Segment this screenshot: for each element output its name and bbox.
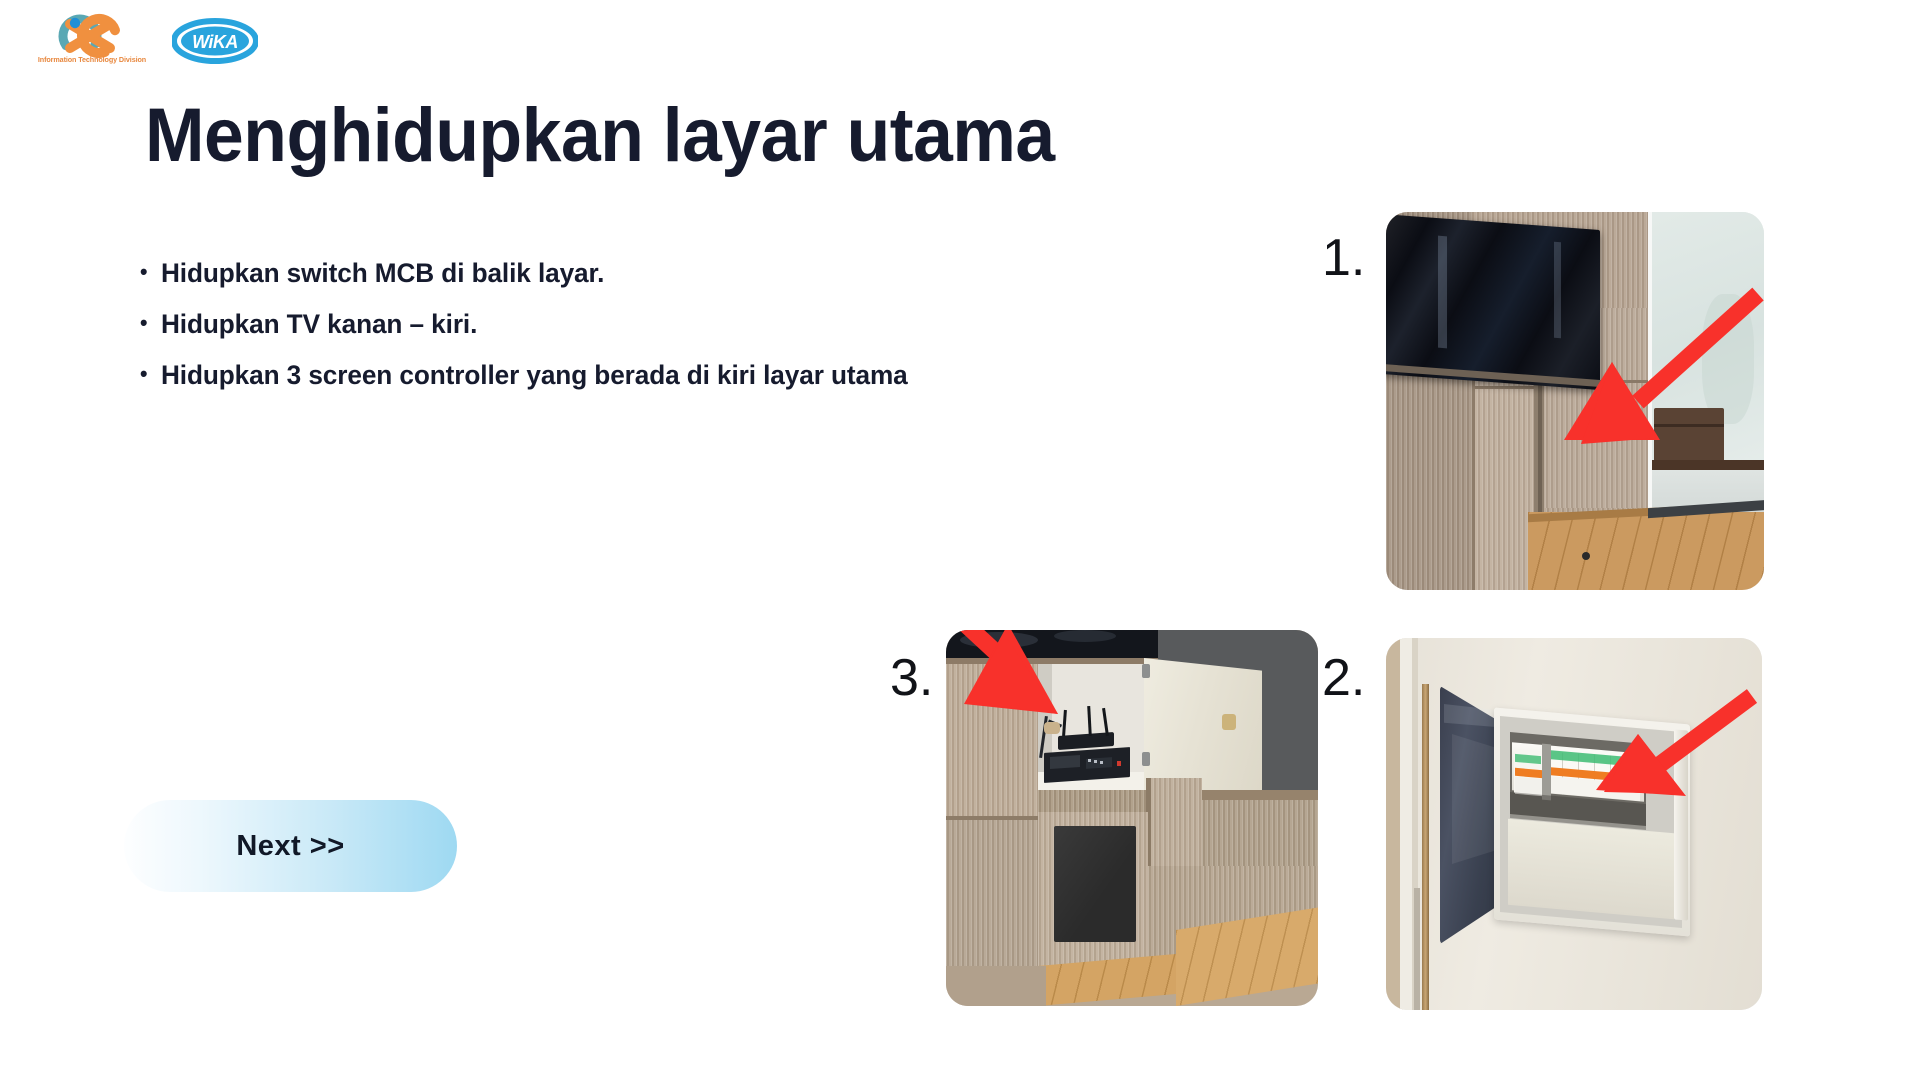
information-technology-division-logo: Information Technology Division xyxy=(30,12,150,70)
figure-2-photo xyxy=(1386,638,1762,1010)
instruction-list: • Hidupkan switch MCB di balik layar. • … xyxy=(140,258,1240,411)
list-item: • Hidupkan 3 screen controller yang bera… xyxy=(140,360,1207,391)
bullet-marker-icon: • xyxy=(140,312,147,334)
page-title: Menghidupkan layar utama xyxy=(145,92,1055,179)
figure-1-number: 1. xyxy=(1322,228,1365,288)
figure-3-photo xyxy=(946,630,1318,1006)
list-item: • Hidupkan TV kanan – kiri. xyxy=(140,309,1207,340)
blue-dot-icon xyxy=(70,18,80,28)
it-logo-caption: Information Technology Division xyxy=(36,56,148,64)
list-item: • Hidupkan switch MCB di balik layar. xyxy=(140,258,1207,289)
red-arrow-annotation-icon xyxy=(1386,212,1764,590)
figure-2-number: 2. xyxy=(1322,648,1365,708)
infinity-icon xyxy=(30,12,150,60)
svg-text:WiKA: WiKA xyxy=(192,32,238,52)
list-item-text: Hidupkan switch MCB di balik layar. xyxy=(161,258,604,289)
bullet-marker-icon: • xyxy=(140,261,147,283)
wika-logo: WiKA xyxy=(172,18,258,64)
figure-1-photo xyxy=(1386,212,1764,590)
next-button[interactable]: Next >> xyxy=(124,800,457,892)
logo-bar: Information Technology Division WiKA xyxy=(30,12,258,70)
slide-root: Information Technology Division WiKA Men… xyxy=(0,0,1920,1080)
list-item-text: Hidupkan 3 screen controller yang berada… xyxy=(161,360,908,391)
figure-3-number: 3. xyxy=(890,648,933,708)
list-item-text: Hidupkan TV kanan – kiri. xyxy=(161,309,477,340)
bullet-marker-icon: • xyxy=(140,363,147,385)
red-arrow-annotation-icon xyxy=(946,630,1318,1006)
red-arrow-annotation-icon xyxy=(1386,638,1762,1010)
